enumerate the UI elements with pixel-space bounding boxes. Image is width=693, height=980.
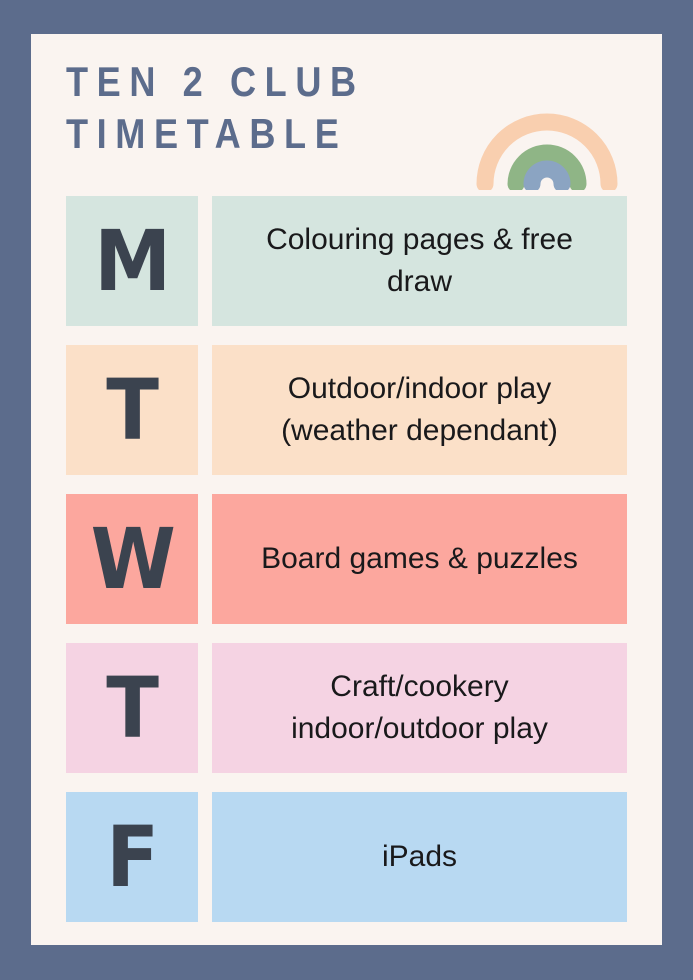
poster-card: TEN 2 CLUB TIMETABLE M Colouring pages &…: [31, 34, 662, 945]
day-letter: F: [107, 815, 158, 899]
day-letter: T: [107, 666, 158, 750]
day-cell-tuesday: T: [66, 345, 198, 475]
day-cell-friday: F: [66, 792, 198, 922]
page-title: TEN 2 CLUB TIMETABLE: [66, 56, 410, 160]
timetable-rows: M Colouring pages & free draw T Outdoor/…: [31, 196, 662, 922]
activity-text: Outdoor/indoor play (weather dependant): [281, 368, 558, 452]
table-row: T Craft/cookery indoor/outdoor play: [31, 643, 662, 773]
activity-cell-wednesday: Board games & puzzles: [212, 494, 627, 624]
activity-cell-tuesday: Outdoor/indoor play (weather dependant): [212, 345, 627, 475]
day-cell-wednesday: W: [66, 494, 198, 624]
rainbow-inner-arc: [532, 169, 562, 184]
activity-text: iPads: [382, 836, 457, 878]
day-letter: W: [90, 517, 173, 601]
poster-header: TEN 2 CLUB TIMETABLE: [31, 34, 662, 186]
activity-text: Craft/cookery indoor/outdoor play: [291, 666, 548, 750]
timetable-poster: TEN 2 CLUB TIMETABLE M Colouring pages &…: [0, 0, 693, 980]
table-row: F iPads: [31, 792, 662, 922]
day-letter: T: [107, 368, 158, 452]
day-cell-thursday: T: [66, 643, 198, 773]
activity-cell-thursday: Craft/cookery indoor/outdoor play: [212, 643, 627, 773]
rainbow-graphic: [444, 54, 650, 190]
table-row: W Board games & puzzles: [31, 494, 662, 624]
activity-cell-friday: iPads: [212, 792, 627, 922]
day-cell-monday: M: [66, 196, 198, 326]
activity-cell-monday: Colouring pages & free draw: [212, 196, 627, 326]
table-row: T Outdoor/indoor play (weather dependant…: [31, 345, 662, 475]
table-row: M Colouring pages & free draw: [31, 196, 662, 326]
activity-text: Board games & puzzles: [261, 538, 578, 580]
day-letter: M: [94, 219, 169, 303]
activity-text: Colouring pages & free draw: [266, 219, 573, 303]
